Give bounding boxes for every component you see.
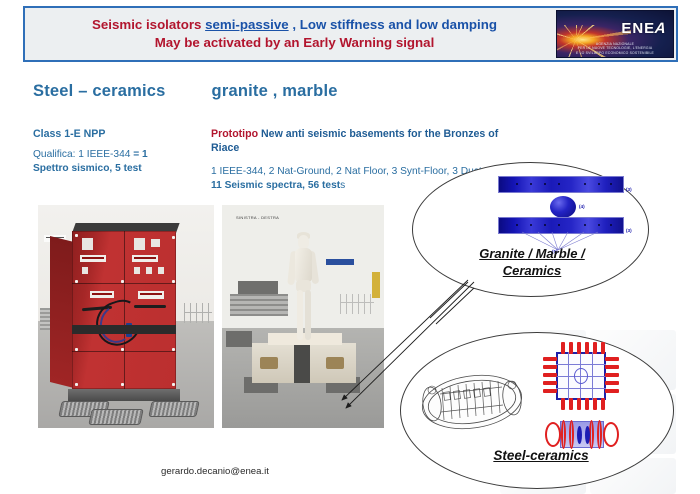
cabinet-screw <box>172 348 175 351</box>
cabinet-switch <box>82 267 88 274</box>
middle-column-body-text: 1 IEEE-344, 2 Nat-Ground, 2 Nat Floor, 3… <box>211 166 490 177</box>
chip-pin-right <box>605 357 619 361</box>
coil-ring <box>597 420 602 449</box>
middle-column-heading-highlight: Prototipo <box>211 128 258 140</box>
cabinet-screw <box>75 348 78 351</box>
coil-ceramic-element <box>585 426 590 444</box>
left-column-body-bold-1: = 1 <box>133 149 147 160</box>
steel-ceramic-plan-view <box>543 342 619 410</box>
page-title-right: granite , marble <box>212 82 338 100</box>
cabinet-screw <box>172 236 175 239</box>
cabinet-switch <box>134 267 140 274</box>
chip-pin-bottom <box>585 398 589 410</box>
left-text-column: Class 1-E NPP Qualifica: 1 IEEE-344 = 1 … <box>33 128 203 175</box>
cabinet-dark-strip <box>72 325 176 334</box>
steel-ceramic-device-drawing <box>418 368 526 434</box>
chip-pin-bottom <box>569 398 573 410</box>
cabinet-screw <box>121 348 124 351</box>
middle-column-body-bold: 11 Seismic spectra, 56 test <box>211 180 340 191</box>
chip-pin-bottom <box>561 398 565 410</box>
header-line-2: May be activated by an Early Warning sig… <box>155 34 435 52</box>
room-railing <box>184 303 212 323</box>
page-title: Steel – ceramicsgranite , marble <box>33 82 338 101</box>
cabinet-label-plate <box>132 255 158 262</box>
cabinet-instrument-panel <box>82 238 93 250</box>
cabinet-instrument-panel <box>151 239 160 247</box>
photo-red-cabinet-on-isolators <box>38 205 214 428</box>
middle-column-body-tail: s <box>340 180 345 191</box>
left-column-body-bold-2: Spettro sismico, 5 test <box>33 163 142 174</box>
left-column-heading: Class 1-E NPP <box>33 128 203 140</box>
footer-email: gerardo.decanio@enea.it <box>0 466 430 477</box>
left-column-body: Qualifica: 1 IEEE-344 = 1 Spettro sismic… <box>33 148 203 175</box>
cabinet-label-plate <box>138 291 164 299</box>
statue-torso <box>295 248 312 282</box>
header-line-1: Seismic isolators semi-passive , Low sti… <box>92 16 497 34</box>
cabinet-screw <box>121 383 124 386</box>
cabinet-screw <box>75 280 78 283</box>
diagram-leader-lines <box>498 176 638 256</box>
cabinet-base-frame <box>68 389 180 401</box>
chip-pin-right <box>605 389 619 393</box>
left-column-body-text: Qualifica: 1 IEEE-344 <box>33 149 133 160</box>
enea-wordmark: ENEA <box>621 20 667 37</box>
cabinet-switch <box>158 267 164 274</box>
header-line-1-part-1: Seismic isolators <box>92 17 205 32</box>
chip-grid-line <box>556 388 606 389</box>
header-banner: Seismic isolators semi-passive , Low sti… <box>23 6 678 62</box>
slide-canvas: Seismic isolators semi-passive , Low sti… <box>0 0 700 494</box>
coil-ceramic-element <box>577 426 582 444</box>
cabinet-label-plate <box>80 255 106 262</box>
statue-head <box>298 235 309 249</box>
page-title-left: Steel – ceramics <box>33 82 166 100</box>
photo-statue-on-basement: SINISTRA - DESTRA <box>222 205 384 428</box>
cabinet-screw <box>172 383 175 386</box>
lab-railing <box>340 294 374 314</box>
enea-subtitle-line-3: E LO SVILUPPO ECONOMICO SOSTENIBILE <box>557 51 673 55</box>
enea-logo: ENEA AGENZIA NAZIONALE PER LE NUOVE TECN… <box>556 10 674 58</box>
chip-pin-right <box>605 365 619 369</box>
cabinet-screw <box>121 280 124 283</box>
cabinet-screw <box>172 280 175 283</box>
coil-end-loop-left <box>545 422 561 447</box>
chip-pin-bottom <box>593 398 597 410</box>
chip-pin-bottom <box>577 398 581 410</box>
lab-bench <box>230 294 288 316</box>
basement-bracket <box>326 357 344 369</box>
callout-label-granite: Granite / Marble / Ceramics <box>462 245 602 279</box>
chip-pin-bottom <box>601 398 605 410</box>
granite-isolator-diagram: (3) (4) (3) (5) <box>498 176 638 238</box>
floor-plate <box>226 331 252 347</box>
cabinet-label-plate <box>90 291 114 298</box>
cabinet-screw <box>75 383 78 386</box>
cabinet-side-face <box>50 236 74 388</box>
cabinet-screw <box>75 234 78 237</box>
header-line-1-underlined-term: semi-passive <box>205 17 289 32</box>
lab-bench-upper <box>238 281 278 295</box>
chip-pin-left <box>543 357 557 361</box>
coil-end-loop-right <box>603 422 619 447</box>
chip-pin-top <box>601 342 605 354</box>
chip-pin-left <box>543 389 557 393</box>
coil-ring <box>561 420 566 449</box>
chip-pin-top <box>593 342 597 354</box>
coil-ring <box>569 420 574 449</box>
middle-column-heading: Prototipo New anti seismic basements for… <box>211 128 501 155</box>
steel-ceramic-side-view <box>543 418 621 452</box>
chip-pin-left <box>543 381 557 385</box>
seismic-isolator <box>148 401 199 417</box>
chip-pin-top <box>577 342 581 354</box>
lab-blue-sign <box>326 259 354 265</box>
enea-wordmark-last-letter: A <box>653 20 670 37</box>
chip-pin-left <box>543 373 557 377</box>
chip-grid-line <box>556 364 606 365</box>
chip-center-hole <box>574 368 588 384</box>
enea-logo-subtitle: AGENZIA NAZIONALE PER LE NUOVE TECNOLOGI… <box>557 42 673 55</box>
cabinet-switch <box>146 267 152 274</box>
chip-pin-top <box>585 342 589 354</box>
chip-pin-right <box>605 373 619 377</box>
basement-center-gap <box>294 345 310 383</box>
callout-label-granite-line-1: Granite / Marble / <box>479 246 584 261</box>
chip-pin-right <box>605 381 619 385</box>
callout-label-steel: Steel-ceramics <box>466 448 616 463</box>
enea-wordmark-main: ENE <box>621 20 655 37</box>
chip-pin-top <box>569 342 573 354</box>
header-text-wrap: Seismic isolators semi-passive , Low sti… <box>25 8 556 60</box>
cabinet-divider <box>72 283 176 284</box>
callout-label-granite-line-2: Ceramics <box>503 263 562 278</box>
chip-pin-top <box>561 342 565 354</box>
chip-pin-left <box>543 365 557 369</box>
basement-bracket <box>260 357 278 369</box>
seismic-isolator <box>88 409 143 425</box>
overhead-direction-label: SINISTRA - DESTRA <box>236 215 279 220</box>
statue-left-leg <box>297 290 303 340</box>
statue-right-leg <box>305 290 311 340</box>
cabinet-door-handle <box>134 305 166 308</box>
statue-figure <box>286 235 320 341</box>
cabinet-instrument-panel <box>134 238 145 250</box>
header-line-1-part-2: , Low stiffness and low damping <box>289 17 497 32</box>
cabinet-divider <box>72 351 176 352</box>
